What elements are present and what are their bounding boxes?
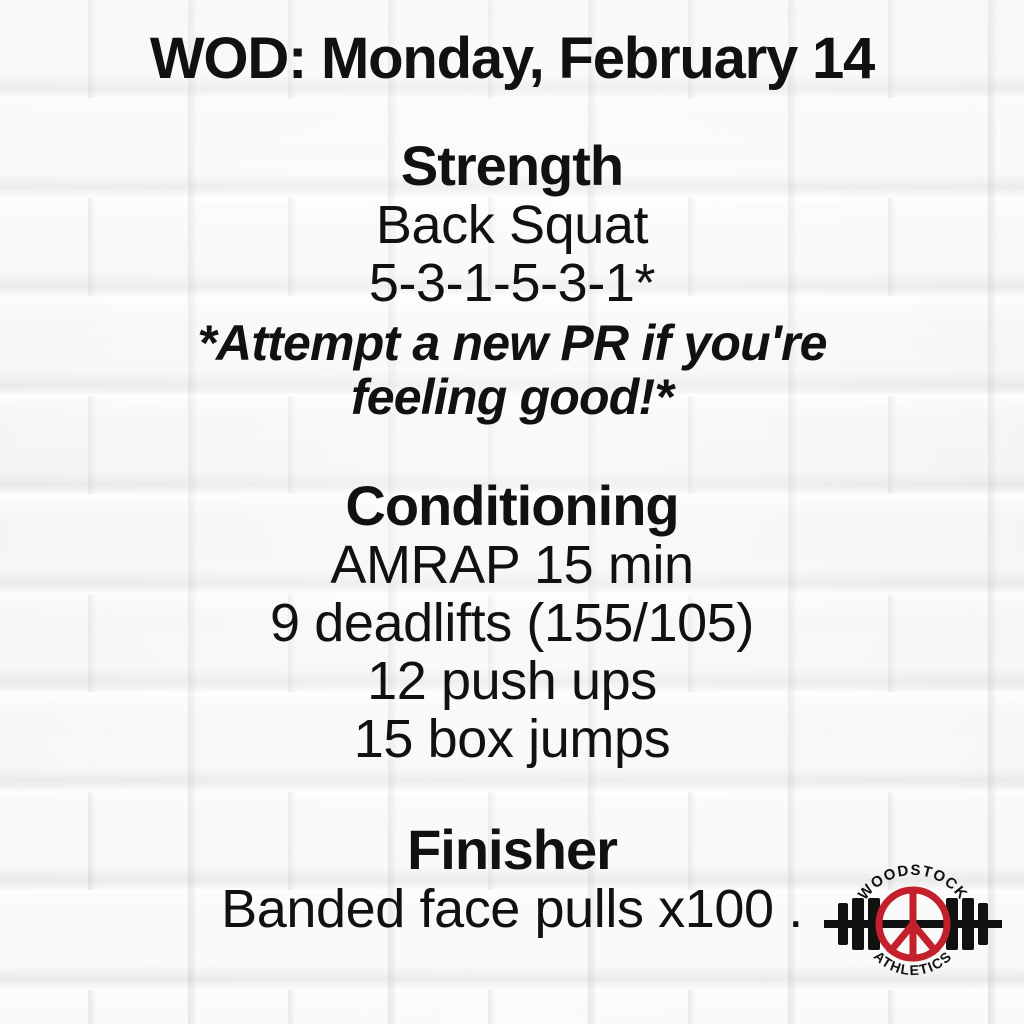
conditioning-line-1: AMRAP 15 min [0, 538, 1024, 592]
section-heading-strength: Strength [0, 138, 1024, 194]
section-conditioning: Conditioning AMRAP 15 min 9 deadlifts (1… [0, 478, 1024, 766]
section-strength: Strength Back Squat 5-3-1-5-3-1* *Attemp… [0, 138, 1024, 424]
page-title: WOD: Monday, February 14 [0, 30, 1024, 88]
woodstock-athletics-logo: WOODSTOCK ATHLETICS [818, 858, 1008, 988]
conditioning-line-2: 9 deadlifts (155/105) [0, 596, 1024, 650]
strength-line-2: 5-3-1-5-3-1* [0, 256, 1024, 310]
finisher-text: Banded face pulls x100 . [221, 882, 803, 936]
conditioning-line-4: 15 box jumps [0, 712, 1024, 766]
wod-poster: WOD: Monday, February 14 Strength Back S… [0, 0, 1024, 1024]
strength-line-1: Back Squat [0, 198, 1024, 252]
conditioning-line-3: 12 push ups [0, 654, 1024, 708]
strength-note: *Attempt a new PR if you're feeling good… [0, 316, 1024, 424]
section-heading-conditioning: Conditioning [0, 478, 1024, 534]
